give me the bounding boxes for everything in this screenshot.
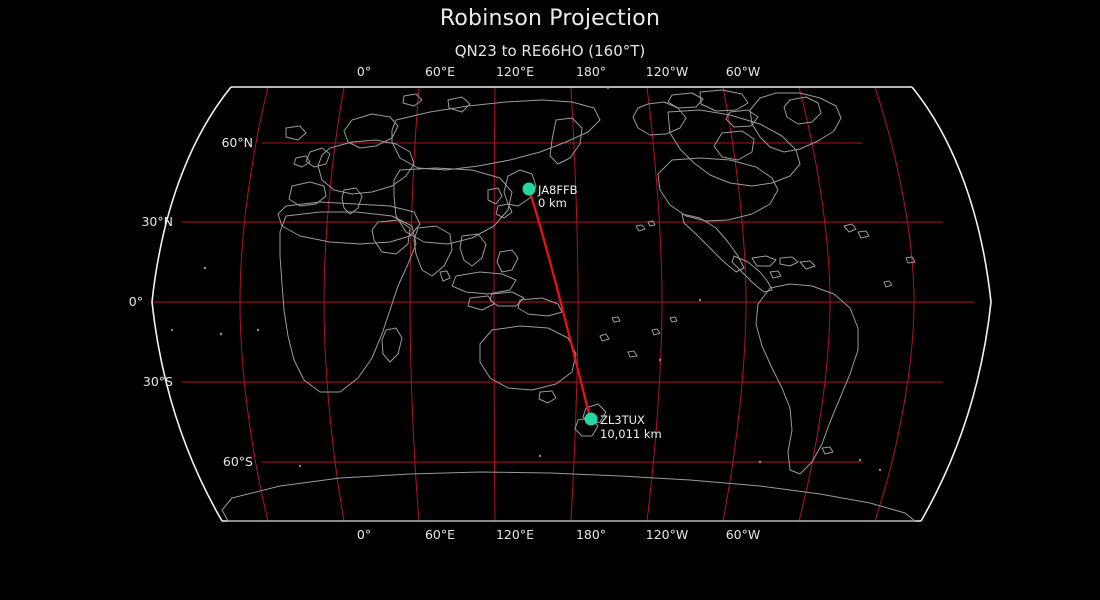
lon-label-top-1: 60°E <box>425 64 455 79</box>
destination-distance-label: 10,011 km <box>600 427 662 441</box>
lon-label-bottom-5: 60°W <box>726 527 761 542</box>
great-circle-path <box>529 189 590 418</box>
lon-label-bottom-3: 180° <box>576 527 606 542</box>
marker-destination[interactable]: ZL3TUX 10,011 km <box>585 413 662 442</box>
robinson-projection-svg: JA8FFB 0 km ZL3TUX 10,011 km 0° 60°E 120… <box>0 0 1100 600</box>
island-specks <box>171 87 881 471</box>
lat-label-4: 60°S <box>223 454 253 469</box>
lon-label-top-0: 0° <box>357 64 371 79</box>
lat-label-1: 30°N <box>141 214 173 229</box>
origin-callsign-label: JA8FFB <box>537 183 578 197</box>
origin-marker-dot[interactable] <box>523 183 536 196</box>
destination-callsign-label: ZL3TUX <box>600 413 645 427</box>
lat-label-2: 0° <box>129 294 143 309</box>
lon-label-bottom-2: 120°E <box>496 527 534 542</box>
lon-label-top-2: 120°E <box>496 64 534 79</box>
destination-marker-dot[interactable] <box>585 413 598 426</box>
lon-label-top-4: 120°W <box>646 64 688 79</box>
map-outline <box>152 87 991 521</box>
lat-label-0: 60°N <box>221 135 253 150</box>
longitude-labels-top: 0° 60°E 120°E 180° 120°W 60°W <box>357 64 760 79</box>
longitude-labels-bottom: 0° 60°E 120°E 180° 120°W 60°W <box>357 527 760 542</box>
lon-label-bottom-1: 60°E <box>425 527 455 542</box>
origin-distance-label: 0 km <box>538 196 567 210</box>
coastlines <box>222 90 915 521</box>
lon-label-bottom-0: 0° <box>357 527 371 542</box>
lon-label-top-5: 60°W <box>726 64 761 79</box>
graticule-meridians <box>240 87 914 521</box>
map-canvas: Robinson Projection QN23 to RE66HO (160°… <box>0 0 1100 600</box>
lat-label-3: 30°S <box>143 374 173 389</box>
lon-label-top-3: 180° <box>576 64 606 79</box>
lon-label-bottom-4: 120°W <box>646 527 688 542</box>
